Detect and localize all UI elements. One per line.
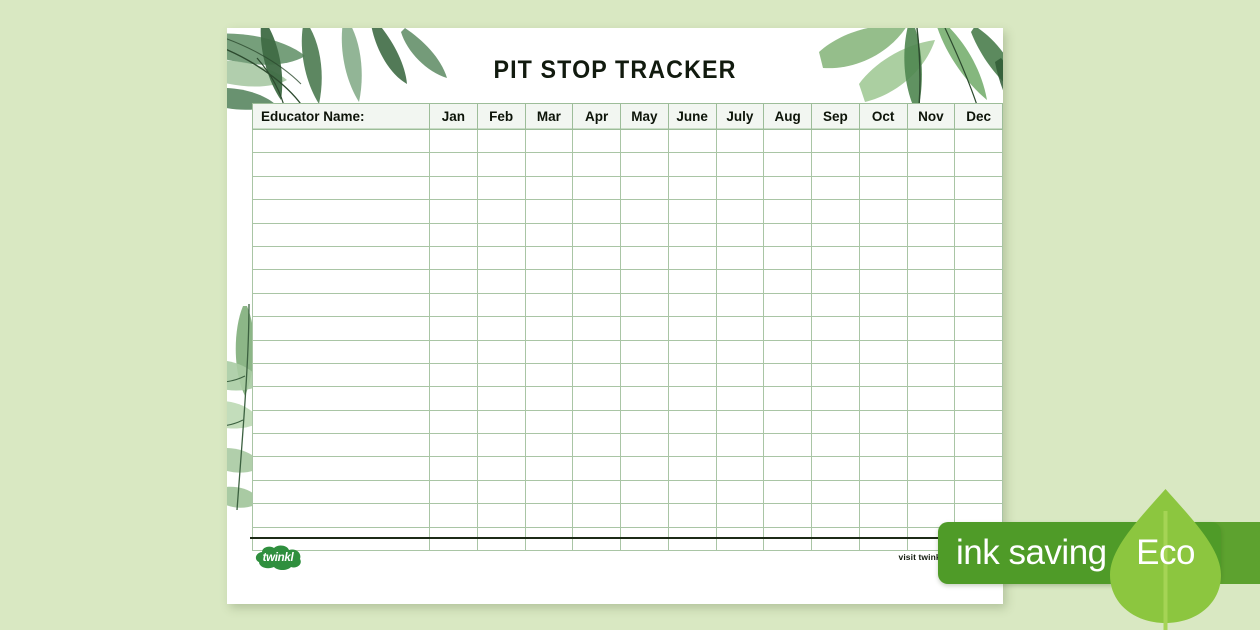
cell-month-dec[interactable] — [955, 153, 1003, 176]
cell-month-may[interactable] — [621, 410, 669, 433]
cell-month-nov[interactable] — [907, 434, 955, 457]
cell-month-apr[interactable] — [573, 410, 621, 433]
cell-month-nov[interactable] — [907, 457, 955, 480]
cell-educator-name[interactable] — [253, 504, 430, 527]
cell-month-aug[interactable] — [764, 387, 812, 410]
cell-month-apr[interactable] — [573, 457, 621, 480]
cell-month-apr[interactable] — [573, 504, 621, 527]
eco-badge-leaf-label: Eco — [1108, 522, 1223, 584]
cell-month-mar[interactable] — [525, 200, 573, 223]
cell-month-june[interactable] — [668, 457, 716, 480]
cell-month-may[interactable] — [621, 387, 669, 410]
cell-month-july[interactable] — [716, 434, 764, 457]
cell-month-june[interactable] — [668, 387, 716, 410]
cell-month-jan[interactable] — [430, 130, 478, 153]
table-row — [253, 434, 1003, 457]
cell-month-mar[interactable] — [525, 317, 573, 340]
cell-month-jan[interactable] — [430, 223, 478, 246]
cell-month-nov[interactable] — [907, 410, 955, 433]
cell-month-sep[interactable] — [812, 176, 860, 199]
cell-month-june[interactable] — [668, 270, 716, 293]
cell-month-oct[interactable] — [859, 363, 907, 386]
cell-month-june[interactable] — [668, 480, 716, 503]
cell-month-feb[interactable] — [477, 270, 525, 293]
cell-month-june[interactable] — [668, 293, 716, 316]
table-row — [253, 270, 1003, 293]
cell-month-july[interactable] — [716, 480, 764, 503]
cell-month-jan[interactable] — [430, 153, 478, 176]
table-row — [253, 504, 1003, 527]
cell-month-may[interactable] — [621, 504, 669, 527]
cell-month-dec[interactable] — [955, 246, 1003, 269]
cell-month-dec[interactable] — [955, 434, 1003, 457]
column-header-month-nov: Nov — [907, 104, 955, 130]
cell-month-dec[interactable] — [955, 270, 1003, 293]
cell-educator-name[interactable] — [253, 410, 430, 433]
cell-month-aug[interactable] — [764, 363, 812, 386]
cell-educator-name[interactable] — [253, 480, 430, 503]
cell-month-feb[interactable] — [477, 410, 525, 433]
cell-month-jan[interactable] — [430, 293, 478, 316]
cell-month-july[interactable] — [716, 387, 764, 410]
cell-month-may[interactable] — [621, 457, 669, 480]
cell-month-oct[interactable] — [859, 504, 907, 527]
cell-month-mar[interactable] — [525, 363, 573, 386]
cell-month-june[interactable] — [668, 223, 716, 246]
cell-month-oct[interactable] — [859, 410, 907, 433]
cell-month-feb[interactable] — [477, 504, 525, 527]
table-row — [253, 480, 1003, 503]
cell-month-mar[interactable] — [525, 504, 573, 527]
cell-month-aug[interactable] — [764, 200, 812, 223]
cell-educator-name[interactable] — [253, 223, 430, 246]
cell-month-july[interactable] — [716, 363, 764, 386]
cell-month-jan[interactable] — [430, 246, 478, 269]
cell-month-feb[interactable] — [477, 363, 525, 386]
cell-month-dec[interactable] — [955, 176, 1003, 199]
cell-month-oct[interactable] — [859, 387, 907, 410]
cell-month-sep[interactable] — [812, 387, 860, 410]
cell-month-apr[interactable] — [573, 223, 621, 246]
table-row — [253, 246, 1003, 269]
cell-month-aug[interactable] — [764, 317, 812, 340]
cell-month-july[interactable] — [716, 176, 764, 199]
cell-month-jan[interactable] — [430, 410, 478, 433]
cell-month-dec[interactable] — [955, 340, 1003, 363]
cell-month-oct[interactable] — [859, 434, 907, 457]
cell-educator-name[interactable] — [253, 200, 430, 223]
table-header: Educator Name: Jan Feb Mar Apr May June … — [253, 104, 1003, 130]
cell-month-may[interactable] — [621, 246, 669, 269]
cell-educator-name[interactable] — [253, 340, 430, 363]
cell-month-aug[interactable] — [764, 130, 812, 153]
cell-month-jan[interactable] — [430, 340, 478, 363]
table-row — [253, 457, 1003, 480]
cell-month-may[interactable] — [621, 340, 669, 363]
cell-month-july[interactable] — [716, 410, 764, 433]
cell-month-apr[interactable] — [573, 387, 621, 410]
twinkl-logo[interactable]: twinkl — [252, 545, 304, 571]
cell-month-mar[interactable] — [525, 246, 573, 269]
cell-month-nov[interactable] — [907, 293, 955, 316]
cell-month-oct[interactable] — [859, 176, 907, 199]
column-header-month-aug: Aug — [764, 104, 812, 130]
cell-month-jan[interactable] — [430, 480, 478, 503]
cell-educator-name[interactable] — [253, 176, 430, 199]
cell-month-may[interactable] — [621, 176, 669, 199]
cell-month-apr[interactable] — [573, 200, 621, 223]
cell-month-oct[interactable] — [859, 200, 907, 223]
cell-month-feb[interactable] — [477, 387, 525, 410]
cell-month-may[interactable] — [621, 270, 669, 293]
cell-month-oct[interactable] — [859, 340, 907, 363]
cell-month-aug[interactable] — [764, 223, 812, 246]
cell-month-mar[interactable] — [525, 153, 573, 176]
cell-month-jan[interactable] — [430, 387, 478, 410]
cell-month-mar[interactable] — [525, 340, 573, 363]
cell-month-mar[interactable] — [525, 480, 573, 503]
cell-month-july[interactable] — [716, 223, 764, 246]
cell-month-feb[interactable] — [477, 457, 525, 480]
cell-month-may[interactable] — [621, 317, 669, 340]
cell-month-oct[interactable] — [859, 270, 907, 293]
cell-month-dec[interactable] — [955, 223, 1003, 246]
cell-month-mar[interactable] — [525, 434, 573, 457]
cell-month-nov[interactable] — [907, 387, 955, 410]
cell-month-dec[interactable] — [955, 200, 1003, 223]
cell-month-dec[interactable] — [955, 317, 1003, 340]
cell-month-june[interactable] — [668, 317, 716, 340]
cell-month-nov[interactable] — [907, 246, 955, 269]
cell-month-mar[interactable] — [525, 457, 573, 480]
cell-month-mar[interactable] — [525, 270, 573, 293]
table-row — [253, 223, 1003, 246]
cell-month-oct[interactable] — [859, 457, 907, 480]
cell-month-aug[interactable] — [764, 246, 812, 269]
cell-month-june[interactable] — [668, 434, 716, 457]
cell-month-nov[interactable] — [907, 223, 955, 246]
cell-month-jan[interactable] — [430, 434, 478, 457]
cell-month-oct[interactable] — [859, 223, 907, 246]
cell-month-jan[interactable] — [430, 200, 478, 223]
cell-month-feb[interactable] — [477, 200, 525, 223]
column-header-month-dec: Dec — [955, 104, 1003, 130]
cell-month-feb[interactable] — [477, 340, 525, 363]
column-header-month-june: June — [668, 104, 716, 130]
cell-month-feb[interactable] — [477, 434, 525, 457]
column-header-month-feb: Feb — [477, 104, 525, 130]
cell-month-aug[interactable] — [764, 270, 812, 293]
table-row — [253, 387, 1003, 410]
cell-month-jan[interactable] — [430, 457, 478, 480]
cell-month-sep[interactable] — [812, 200, 860, 223]
cell-month-june[interactable] — [668, 246, 716, 269]
cell-month-mar[interactable] — [525, 293, 573, 316]
cell-month-feb[interactable] — [477, 293, 525, 316]
cell-month-nov[interactable] — [907, 270, 955, 293]
cell-month-july[interactable] — [716, 246, 764, 269]
cell-month-apr[interactable] — [573, 153, 621, 176]
cell-month-apr[interactable] — [573, 363, 621, 386]
table-row — [253, 317, 1003, 340]
column-header-educator-name: Educator Name: — [253, 104, 430, 130]
cell-month-july[interactable] — [716, 200, 764, 223]
cell-month-june[interactable] — [668, 200, 716, 223]
cell-month-aug[interactable] — [764, 504, 812, 527]
cell-month-aug[interactable] — [764, 410, 812, 433]
cell-month-may[interactable] — [621, 293, 669, 316]
cell-month-mar[interactable] — [525, 410, 573, 433]
cell-educator-name[interactable] — [253, 457, 430, 480]
footer-divider — [250, 537, 1003, 539]
cell-month-feb[interactable] — [477, 176, 525, 199]
cell-month-nov[interactable] — [907, 130, 955, 153]
cell-educator-name[interactable] — [253, 317, 430, 340]
table-header-row: Educator Name: Jan Feb Mar Apr May June … — [253, 104, 1003, 130]
table-row — [253, 340, 1003, 363]
cell-month-feb[interactable] — [477, 223, 525, 246]
cell-month-feb[interactable] — [477, 480, 525, 503]
cell-educator-name[interactable] — [253, 153, 430, 176]
table-row — [253, 363, 1003, 386]
cell-month-mar[interactable] — [525, 223, 573, 246]
cell-month-feb[interactable] — [477, 246, 525, 269]
cell-month-jan[interactable] — [430, 504, 478, 527]
cell-month-oct[interactable] — [859, 246, 907, 269]
cell-month-apr[interactable] — [573, 246, 621, 269]
cell-month-june[interactable] — [668, 504, 716, 527]
cell-month-sep[interactable] — [812, 410, 860, 433]
cell-month-aug[interactable] — [764, 153, 812, 176]
cell-month-sep[interactable] — [812, 293, 860, 316]
cell-month-apr[interactable] — [573, 434, 621, 457]
cell-month-oct[interactable] — [859, 480, 907, 503]
column-header-month-mar: Mar — [525, 104, 573, 130]
cell-month-july[interactable] — [716, 153, 764, 176]
cell-month-may[interactable] — [621, 363, 669, 386]
cell-month-dec[interactable] — [955, 293, 1003, 316]
cell-month-jan[interactable] — [430, 317, 478, 340]
cell-month-nov[interactable] — [907, 317, 955, 340]
column-header-month-apr: Apr — [573, 104, 621, 130]
cell-month-feb[interactable] — [477, 317, 525, 340]
cell-month-jan[interactable] — [430, 270, 478, 293]
ink-saving-eco-badge: ink saving Eco — [938, 487, 1260, 630]
cell-month-nov[interactable] — [907, 153, 955, 176]
page-title: PIT STOP TRACKER — [254, 56, 976, 85]
cell-month-dec[interactable] — [955, 457, 1003, 480]
cell-month-apr[interactable] — [573, 130, 621, 153]
cell-month-jan[interactable] — [430, 363, 478, 386]
cell-educator-name[interactable] — [253, 130, 430, 153]
cell-month-jan[interactable] — [430, 176, 478, 199]
twinkl-logo-text: twinkl — [252, 545, 304, 571]
cell-month-june[interactable] — [668, 410, 716, 433]
cell-month-feb[interactable] — [477, 153, 525, 176]
cell-month-oct[interactable] — [859, 153, 907, 176]
cell-month-sep[interactable] — [812, 223, 860, 246]
cell-month-may[interactable] — [621, 130, 669, 153]
column-header-month-may: May — [621, 104, 669, 130]
cell-month-apr[interactable] — [573, 480, 621, 503]
cell-month-apr[interactable] — [573, 293, 621, 316]
cell-month-july[interactable] — [716, 504, 764, 527]
cell-month-apr[interactable] — [573, 270, 621, 293]
cell-month-june[interactable] — [668, 153, 716, 176]
cell-month-aug[interactable] — [764, 293, 812, 316]
cell-month-sep[interactable] — [812, 340, 860, 363]
cell-month-sep[interactable] — [812, 130, 860, 153]
cell-educator-name[interactable] — [253, 246, 430, 269]
cell-month-july[interactable] — [716, 317, 764, 340]
cell-month-nov[interactable] — [907, 176, 955, 199]
table-row — [253, 176, 1003, 199]
cell-month-sep[interactable] — [812, 434, 860, 457]
cell-month-june[interactable] — [668, 176, 716, 199]
cell-month-sep[interactable] — [812, 480, 860, 503]
printable-page: PIT STOP TRACKER Educator Name: Jan Feb … — [227, 28, 1003, 604]
cell-month-nov[interactable] — [907, 363, 955, 386]
cell-month-may[interactable] — [621, 200, 669, 223]
cell-month-nov[interactable] — [907, 200, 955, 223]
table-row — [253, 153, 1003, 176]
cell-month-apr[interactable] — [573, 340, 621, 363]
column-header-month-oct: Oct — [859, 104, 907, 130]
cell-month-june[interactable] — [668, 130, 716, 153]
cell-month-mar[interactable] — [525, 130, 573, 153]
table-row — [253, 293, 1003, 316]
cell-month-aug[interactable] — [764, 340, 812, 363]
cell-month-july[interactable] — [716, 457, 764, 480]
cell-educator-name[interactable] — [253, 363, 430, 386]
cell-month-apr[interactable] — [573, 317, 621, 340]
cell-month-sep[interactable] — [812, 457, 860, 480]
column-header-month-july: July — [716, 104, 764, 130]
cell-month-aug[interactable] — [764, 176, 812, 199]
cell-month-sep[interactable] — [812, 363, 860, 386]
table-row — [253, 130, 1003, 153]
cell-month-july[interactable] — [716, 293, 764, 316]
cell-month-dec[interactable] — [955, 363, 1003, 386]
column-header-month-jan: Jan — [430, 104, 478, 130]
cell-educator-name[interactable] — [253, 434, 430, 457]
pit-stop-tracker-table: Educator Name: Jan Feb Mar Apr May June … — [252, 103, 1003, 551]
cell-month-dec[interactable] — [955, 410, 1003, 433]
table-body — [253, 130, 1003, 551]
table-row — [253, 410, 1003, 433]
cell-month-may[interactable] — [621, 153, 669, 176]
cell-month-dec[interactable] — [955, 130, 1003, 153]
cell-month-may[interactable] — [621, 480, 669, 503]
cell-month-sep[interactable] — [812, 270, 860, 293]
cell-month-aug[interactable] — [764, 434, 812, 457]
cell-month-feb[interactable] — [477, 130, 525, 153]
cell-educator-name[interactable] — [253, 387, 430, 410]
cell-month-june[interactable] — [668, 340, 716, 363]
cell-educator-name[interactable] — [253, 293, 430, 316]
cell-month-july[interactable] — [716, 340, 764, 363]
cell-month-mar[interactable] — [525, 176, 573, 199]
cell-month-apr[interactable] — [573, 176, 621, 199]
cell-month-july[interactable] — [716, 270, 764, 293]
table-row — [253, 200, 1003, 223]
column-header-month-sep: Sep — [812, 104, 860, 130]
cell-month-oct[interactable] — [859, 317, 907, 340]
cell-month-may[interactable] — [621, 223, 669, 246]
cell-month-sep[interactable] — [812, 246, 860, 269]
cell-month-dec[interactable] — [955, 387, 1003, 410]
cell-educator-name[interactable] — [253, 270, 430, 293]
cell-month-aug[interactable] — [764, 480, 812, 503]
cell-month-july[interactable] — [716, 130, 764, 153]
cell-month-june[interactable] — [668, 363, 716, 386]
cell-month-sep[interactable] — [812, 317, 860, 340]
cell-month-may[interactable] — [621, 434, 669, 457]
cell-month-aug[interactable] — [764, 457, 812, 480]
cell-month-nov[interactable] — [907, 340, 955, 363]
cell-month-sep[interactable] — [812, 504, 860, 527]
cell-month-mar[interactable] — [525, 387, 573, 410]
cell-month-oct[interactable] — [859, 293, 907, 316]
cell-month-oct[interactable] — [859, 130, 907, 153]
cell-month-sep[interactable] — [812, 153, 860, 176]
